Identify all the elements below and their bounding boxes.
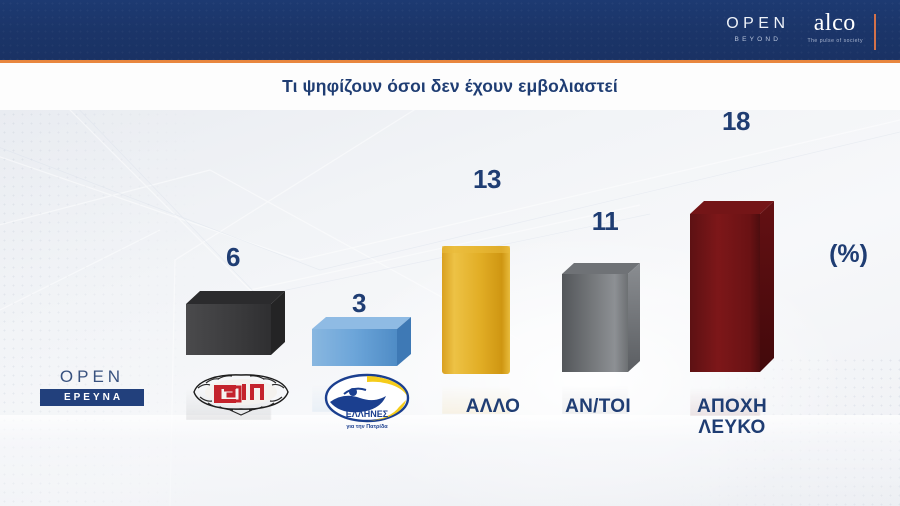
elliniki-lysi-logo [174,368,308,416]
alco-logo: alco The pulse of society [808,11,876,50]
bar-label-apoxi-lefko: ΑΠΟΧΗ ΛΕΥΚΟ [647,396,817,438]
bar-shape-1 [186,286,296,376]
bar-label-apoxi-lefko-line1: ΑΠΟΧΗ [697,396,767,417]
alco-tagline: The pulse of society [807,38,863,44]
bar-group-apoxi-lefko[interactable]: 18 [690,130,810,410]
page-title: Τι ψηφίζουν όσοι δεν έχουν εμβολιαστεί [282,76,618,97]
bar-shape-2 [312,314,422,376]
bar-value-4: 11 [550,206,660,237]
bar-label-apoxi-lefko-line2: ΛΕΥΚΟ [698,417,765,438]
bar-group-elliniki-lysi[interactable]: 6 [186,230,296,410]
bar-value-1: 6 [178,242,288,273]
header-logo-group: OPEN BEYOND alco The pulse of society [726,0,876,60]
slide-root: OPEN BEYOND alco The pulse of society Τι… [0,0,900,506]
bar-value-3: 13 [432,164,542,195]
bar-group-ellines-gia-tin-patrida[interactable]: 3 [312,250,422,410]
bar-shape-3 [442,242,552,376]
alco-divider-rule [874,14,876,50]
alco-wordmark: alco [814,11,856,35]
bar-group-antoi[interactable]: 11 [562,200,672,410]
svg-text:για την Πατρίδα: για την Πατρίδα [346,424,388,430]
bar-value-5: 18 [676,106,796,137]
bar-shape-5 [690,198,810,376]
header-bar: OPEN BEYOND alco The pulse of society [0,0,900,60]
open-beyond-logo: OPEN BEYOND [726,16,789,44]
bar-series: 6 [0,110,900,506]
bar-shape-4 [562,260,672,376]
open-beyond-subtitle: BEYOND [735,36,782,44]
bar-group-allo[interactable]: 13 ΑΛΛΟ [440,180,550,410]
svg-text:ΕΛΛΗΝΕΣ: ΕΛΛΗΝΕΣ [346,409,389,419]
title-bar: Τι ψηφίζουν όσοι δεν έχουν εμβολιαστεί [0,63,900,110]
open-beyond-wordmark: OPEN [726,16,789,32]
